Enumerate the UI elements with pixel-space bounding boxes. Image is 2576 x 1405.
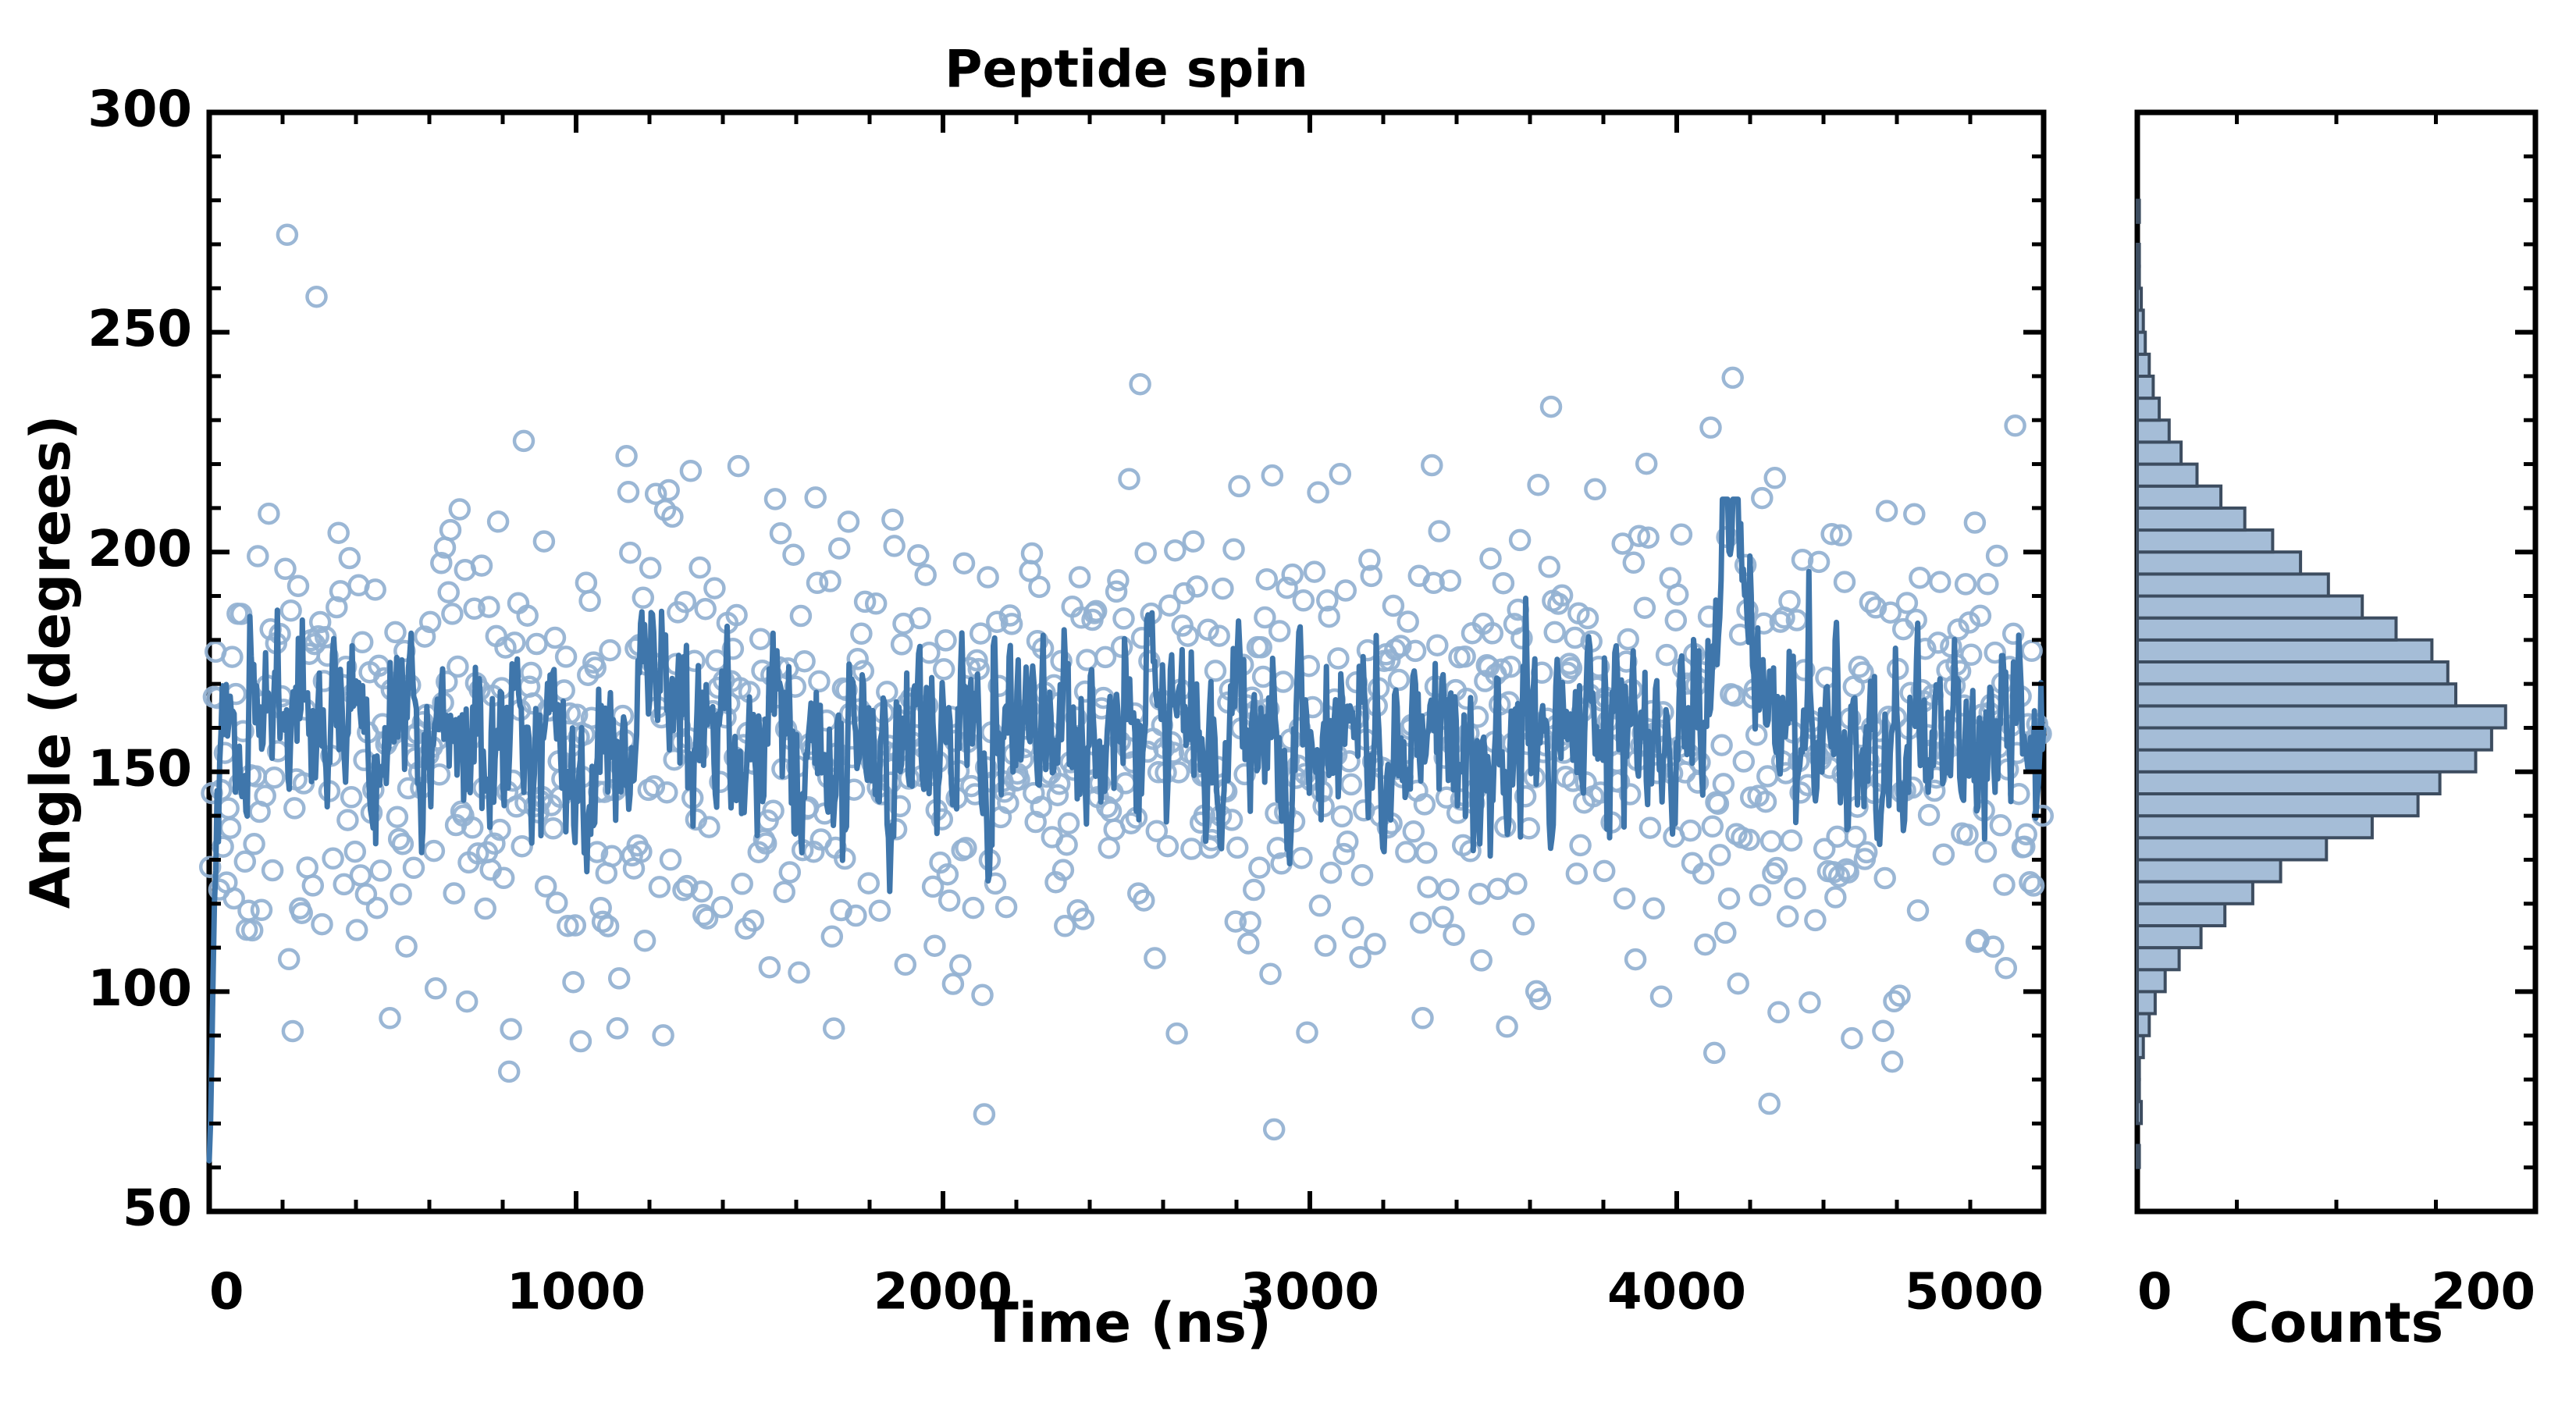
scatter-point [404, 859, 423, 877]
scatter-point [304, 876, 322, 895]
hist-x-tick-label: 200 [2431, 1263, 2535, 1321]
scatter-point [381, 1008, 400, 1027]
histogram-bar [2137, 838, 2326, 859]
y-axis-label: Angle (degrees) [19, 415, 83, 909]
scatter-point [450, 500, 469, 519]
histogram-bar [2137, 618, 2396, 640]
histogram-bar [2137, 684, 2456, 706]
scatter-point [1595, 862, 1614, 880]
histogram-bar [2137, 486, 2221, 508]
scatter-point [502, 1020, 521, 1039]
scatter-point [1365, 934, 1384, 953]
scatter-point [1250, 859, 1268, 877]
histogram-bar [2137, 508, 2245, 530]
scatter-point [1909, 901, 1927, 919]
scatter-point [276, 560, 295, 578]
scatter-point [1305, 563, 1324, 582]
histogram-bar [2137, 750, 2476, 772]
scatter-point [785, 546, 803, 564]
peptide-spin-figure: 01000200030004000500050100150200250300 P… [0, 0, 2576, 1405]
scatter-point [308, 287, 326, 306]
scatter-point [1433, 908, 1452, 927]
scatter-point [610, 969, 628, 987]
scatter-point [351, 866, 370, 885]
scatter-point [1329, 649, 1347, 668]
scatter-point [1995, 876, 2014, 895]
scatter-point [1309, 483, 1328, 502]
scatter-point [1729, 974, 1748, 993]
scatter-point [222, 648, 241, 667]
scatter-point [1714, 774, 1733, 793]
scatter-point [1652, 987, 1670, 1006]
scatter-point [1158, 837, 1177, 855]
scatter-point [1023, 544, 1041, 563]
scatter-point [263, 861, 282, 880]
main-panel: 01000200030004000500050100150200250300 P… [19, 39, 2052, 1355]
scatter-point [1258, 570, 1276, 589]
scatter-point [896, 955, 915, 974]
scatter-point [1641, 819, 1660, 838]
scatter-point [1384, 596, 1403, 615]
histogram-bar [2137, 948, 2179, 969]
scatter-point [489, 512, 507, 531]
scatter-point [329, 524, 348, 542]
scatter-point [621, 543, 639, 562]
histogram-bar [2137, 420, 2169, 442]
scatter-point [564, 973, 583, 991]
scatter-point [1667, 611, 1685, 630]
scatter-point [1695, 935, 1714, 954]
scatter-point [1270, 622, 1289, 641]
scatter-point [707, 651, 726, 670]
scatter-point [1472, 951, 1491, 969]
scatter-point [1342, 775, 1361, 794]
histogram-bar [2137, 662, 2448, 684]
page-title: Peptide spin [945, 39, 1308, 99]
histogram-bar [2137, 244, 2140, 266]
histogram-bars-layer [2137, 201, 2506, 1168]
histogram-bar [2137, 1101, 2141, 1123]
scatter-point [1703, 817, 1722, 836]
scatter-point [971, 624, 990, 643]
histogram-bar [2137, 859, 2281, 881]
scatter-point [1230, 477, 1249, 496]
scatter-point [909, 546, 927, 564]
scatter-point [1399, 613, 1418, 631]
scatter-point [1294, 591, 1313, 610]
scatter-point [324, 849, 343, 868]
scatter-point [1828, 827, 1847, 846]
histogram-bar [2137, 398, 2159, 420]
scatter-point [1336, 582, 1355, 600]
scatter-point [713, 898, 731, 916]
scatter-point [1806, 911, 1824, 930]
histogram-panel: 0200 Counts [2137, 112, 2535, 1355]
scatter-point [1720, 889, 1738, 908]
scatter-point [1115, 609, 1133, 628]
scatter-point [1078, 651, 1097, 670]
y-tick-label: 50 [123, 1180, 192, 1238]
scatter-point [1702, 418, 1720, 437]
scatter-point [1716, 923, 1735, 942]
scatter-point [259, 504, 278, 523]
scatter-point [289, 577, 308, 596]
y-tick-label: 250 [87, 301, 192, 358]
scatter-point [1546, 623, 1564, 642]
scatter-point [282, 601, 301, 620]
scatter-point [528, 635, 546, 653]
scatter-point [425, 841, 443, 860]
scatter-point [1782, 831, 1801, 850]
scatter-point [824, 1019, 843, 1038]
scatter-point [885, 536, 904, 555]
scatter-point [1786, 879, 1805, 898]
scatter-point [839, 512, 858, 531]
scatter-point [1962, 646, 1980, 664]
scatter-point [1529, 475, 1548, 494]
scatter-point [1422, 456, 1441, 475]
scatter-point [346, 842, 365, 861]
scatter-point [1934, 845, 1953, 864]
scatter-point [823, 927, 841, 946]
scatter-point [760, 958, 779, 976]
scatter-point [1338, 832, 1357, 851]
scatter-point [476, 899, 495, 918]
scatter-point [1116, 774, 1135, 792]
scatter-point [283, 1022, 302, 1040]
histogram-bar [2137, 728, 2492, 750]
scatter-point [2023, 642, 2041, 660]
scatter-point [397, 937, 416, 956]
scatter-point [1571, 836, 1590, 855]
scatter-point [441, 521, 460, 539]
histogram-bar [2137, 991, 2155, 1013]
histogram-bar [2137, 926, 2201, 948]
scatter-point [1905, 505, 1923, 524]
scatter-point [608, 1019, 627, 1037]
histogram-bar [2137, 310, 2144, 332]
scatter-point [1244, 880, 1263, 899]
histogram-bar [2137, 640, 2432, 662]
scatter-point [1657, 646, 1676, 664]
scatter-point [1389, 670, 1408, 689]
scatter-point [1615, 889, 1634, 908]
scatter-point [448, 657, 467, 676]
scatter-point [1100, 838, 1119, 857]
scatter-point [1877, 502, 1896, 521]
scatter-point [997, 898, 1016, 916]
scatter-point [940, 891, 959, 910]
scatter-point [514, 432, 533, 450]
scatter-point [1428, 636, 1446, 655]
scatter-point [951, 956, 970, 975]
histogram-bar [2137, 1058, 2140, 1080]
y-tick-label: 100 [87, 960, 192, 1018]
scatter-point [617, 446, 636, 465]
scatter-point [1137, 544, 1155, 563]
scatter-point [1987, 546, 2006, 565]
histogram-bar [2137, 464, 2197, 486]
scatter-point [1439, 880, 1457, 899]
scatter-point [705, 579, 724, 598]
scatter-point [1404, 822, 1423, 841]
scatter-point [1694, 864, 1713, 883]
scatter-point [1710, 845, 1729, 864]
histogram-bar [2137, 288, 2141, 310]
scatter-point [1131, 375, 1150, 393]
scatter-point [1343, 918, 1362, 937]
scatter-point [245, 834, 264, 853]
scatter-point [1668, 585, 1687, 604]
scatter-point [1263, 466, 1282, 485]
scatter-point [1430, 522, 1449, 541]
scatter-point [219, 799, 238, 818]
scatter-point [279, 950, 298, 969]
scatter-point [1567, 864, 1586, 883]
scatter-point [944, 975, 962, 994]
scatter-point [1489, 880, 1507, 898]
scatter-point [1239, 934, 1258, 953]
scatter-point [1842, 1029, 1861, 1048]
scatter-point [937, 631, 955, 649]
scatter-point [236, 852, 254, 871]
scatter-point [1835, 573, 1854, 592]
scatter-point [1991, 816, 2010, 834]
scatter-point [298, 859, 317, 877]
scatter-point [521, 663, 540, 682]
scatter-point [1261, 965, 1280, 983]
scatter-point [535, 532, 553, 551]
scatter-point [1635, 599, 1654, 617]
scatter-point [1265, 1120, 1283, 1139]
scatter-point [340, 549, 359, 567]
scatter-point [571, 1032, 590, 1051]
scatter-point [1070, 568, 1089, 587]
scatter-point [1292, 848, 1311, 867]
scatter-point [1332, 807, 1351, 826]
scatter-point [1184, 532, 1203, 551]
scatter-point [883, 510, 902, 529]
scatter-point [1956, 574, 1975, 593]
scatter-point [372, 861, 390, 880]
scatter-point [581, 592, 600, 610]
scatter-point [285, 799, 304, 817]
histogram-bar [2137, 772, 2440, 794]
scatter-point [1873, 1022, 1892, 1040]
x-axis-label: Time (ns) [981, 1291, 1272, 1355]
scatter-point [1498, 1017, 1517, 1036]
scatter-point [1724, 368, 1742, 387]
hist-x-tick-label: 0 [2137, 1263, 2172, 1321]
scatter-point [388, 808, 407, 827]
scatter-point [1206, 661, 1225, 680]
scatter-point [911, 609, 930, 628]
scatter-point [513, 837, 532, 855]
scatter-point [795, 652, 814, 670]
scatter-point [1876, 869, 1895, 887]
scatter-point [599, 917, 617, 936]
scatter-point [546, 628, 564, 647]
scatter-point [766, 489, 785, 508]
scatter-point [1619, 630, 1638, 649]
scatter-point [1769, 1003, 1788, 1022]
scatter-point [641, 559, 660, 578]
scatter-point [1681, 821, 1700, 840]
scatter-point [1482, 550, 1500, 568]
scatter-point [1626, 950, 1645, 969]
scatter-point [973, 986, 992, 1005]
scatter-point [1713, 736, 1731, 755]
scatter-point [1800, 993, 1819, 1012]
scatter-point [313, 915, 332, 934]
scatter-point [1228, 838, 1247, 857]
scatter-point [1978, 574, 1997, 593]
histogram-bar [2137, 201, 2140, 222]
histogram-bar [2137, 904, 2225, 926]
scatter-point [809, 672, 828, 691]
scatter-point [1417, 844, 1436, 863]
scatter-point [1920, 806, 1938, 824]
scatter-point [792, 606, 810, 625]
scatter-point [1030, 578, 1048, 596]
scatter-point [1778, 907, 1797, 926]
figure-canvas: 01000200030004000500050100150200250300 P… [0, 0, 2576, 1405]
scatter-point [2017, 825, 2036, 844]
scatter-point [1751, 886, 1770, 905]
scatter-point [445, 884, 464, 903]
scatter-point [771, 524, 790, 542]
scatter-point [1322, 863, 1340, 882]
histogram-bar [2137, 596, 2362, 618]
scatter-point [830, 539, 849, 558]
scatter-point [1705, 1044, 1724, 1062]
scatter-point [1735, 752, 1753, 771]
scatter-point [660, 481, 678, 500]
histogram-bar [2137, 816, 2372, 838]
scatter-point [1445, 926, 1464, 944]
scatter-point [1411, 913, 1430, 932]
histogram-bar [2137, 969, 2165, 991]
scatter-point [577, 574, 596, 592]
scatter-point [979, 568, 998, 587]
scatter-point [925, 937, 944, 955]
scatter-point [1767, 859, 1786, 877]
scatter-point [1311, 896, 1329, 915]
scatter-point [975, 1105, 994, 1124]
y-tick-label: 200 [87, 521, 192, 578]
scatter-point [265, 768, 283, 787]
scatter-point [342, 788, 361, 806]
scatter-point [1414, 1008, 1432, 1027]
scatter-point [775, 883, 794, 902]
histogram-bar [2137, 882, 2253, 904]
scatter-point [392, 885, 411, 904]
scatter-point [681, 461, 700, 480]
scatter-point [870, 902, 889, 920]
histogram-bar [2137, 354, 2149, 376]
scatter-point [544, 819, 563, 838]
scatter-point [751, 630, 770, 649]
scatter-point [368, 898, 386, 917]
scatter-point [781, 863, 799, 882]
scatter-point [1758, 767, 1777, 786]
scatter-point [1930, 573, 1949, 592]
hist-x-axis-label: Counts [2229, 1291, 2443, 1355]
scatter-point [1108, 571, 1127, 589]
histogram-bar [2137, 442, 2181, 464]
scatter-point [821, 572, 840, 591]
scatter-point [457, 992, 476, 1011]
scatter-point [1353, 866, 1372, 884]
scatter-point [347, 921, 366, 940]
scatter-point [1894, 620, 1912, 638]
scatter-point [1826, 888, 1845, 907]
scatter-point [1331, 464, 1350, 483]
scatter-point [1059, 814, 1078, 833]
scatter-point [691, 558, 710, 577]
scatter-point [790, 963, 809, 982]
scatter-point [555, 681, 574, 700]
scatter-point [1419, 878, 1438, 897]
scatter-point [1542, 397, 1560, 416]
scatter-point [1683, 854, 1702, 873]
y-tick-label: 300 [87, 81, 192, 139]
scatter-point [1976, 842, 1995, 861]
scatter-point [1637, 454, 1656, 473]
scatter-point [1316, 937, 1335, 955]
scatter-point [1760, 1094, 1779, 1113]
histogram-bar [2137, 1146, 2140, 1168]
histogram-bar [2137, 530, 2272, 552]
scatter-point [557, 647, 575, 666]
scatter-point [1752, 489, 1771, 507]
scatter-point [443, 604, 461, 623]
scatter-point [964, 898, 983, 917]
y-tick-label: 150 [87, 740, 192, 798]
x-tick-label: 5000 [1905, 1263, 2044, 1321]
scatter-point [852, 624, 870, 643]
scatter-point [1168, 1024, 1187, 1043]
histogram-bar [2137, 1014, 2149, 1036]
scatter-point [1470, 884, 1489, 903]
scatter-point [916, 566, 935, 585]
scatter-point [1997, 959, 2016, 977]
scatter-point [1781, 592, 1799, 610]
scatter-point [654, 1026, 673, 1044]
scatter-point [635, 931, 654, 950]
scatter-point [892, 635, 911, 653]
scatter-point [601, 641, 620, 660]
scatter-point [393, 834, 412, 853]
scatter-point [806, 488, 825, 507]
scatter-point [1397, 843, 1415, 862]
scatter-point [934, 660, 953, 678]
scatter-point [1145, 949, 1164, 968]
scatter-point [1910, 568, 1929, 587]
scatter-point [729, 457, 748, 475]
histogram-bar [2137, 1080, 2140, 1101]
scatter-point [1507, 874, 1525, 893]
scatter-point [1182, 840, 1201, 859]
scatter-point [1494, 574, 1513, 592]
scatter-point [2006, 416, 2025, 435]
scatter-point [221, 819, 240, 838]
scatter-point [1540, 557, 1559, 576]
scatter-point [338, 811, 357, 830]
scatter-point [696, 599, 715, 618]
scatter-point [859, 874, 878, 893]
scatter-point [1766, 468, 1784, 487]
